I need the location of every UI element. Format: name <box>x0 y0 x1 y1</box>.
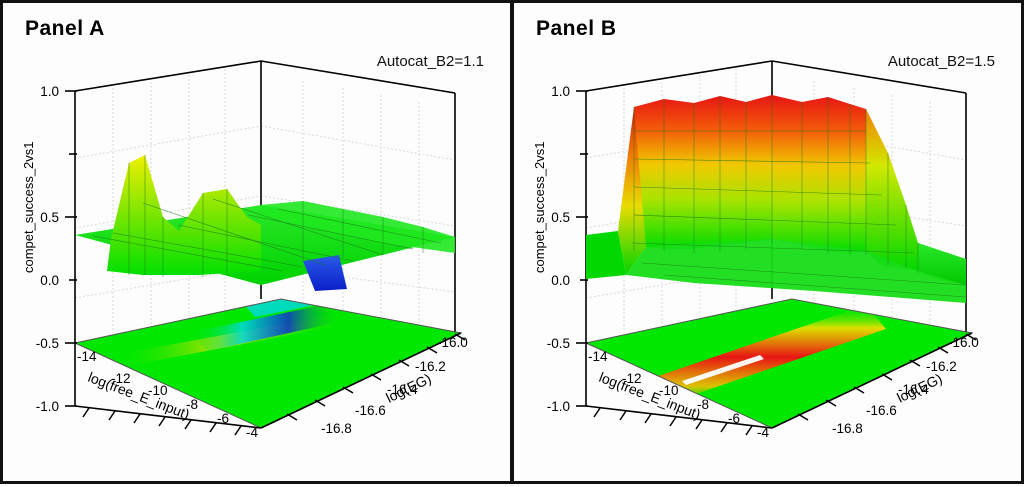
panel-b-xtick-0: -14 <box>588 349 608 364</box>
panel-b-ztick-0: 1.0 <box>551 84 570 99</box>
panel-b-ytick-4: -16.8 <box>832 421 863 436</box>
panel-b-ytick-3: -16.6 <box>866 403 897 418</box>
panel-b-ytick-0: -16.0 <box>948 335 979 350</box>
panel-a-ztick-4: -1.0 <box>36 399 59 414</box>
panel-a-z-axis-title: compet_success_2vs1 <box>21 141 36 273</box>
panel-b-z-axis-lower <box>576 343 588 406</box>
panel-b-ztick-2: 0.0 <box>551 273 570 288</box>
panel-b-z-axis-title: compet_success_2vs1 <box>532 141 547 273</box>
panel-a-ztick-1: 0.5 <box>40 210 59 225</box>
panel-a-ytick-4: -16.8 <box>321 421 352 436</box>
panel-a-ytick-3: -16.6 <box>355 403 386 418</box>
panel-b-ytick-1: -16.2 <box>926 359 957 374</box>
panel-b-surface-plot: 1.0 0.5 0.0 -0.5 -1.0 compet_success_2vs… <box>514 3 1024 487</box>
panel-a-xtick-5: -4 <box>246 425 258 440</box>
figure-container: Panel A Autocat_B2=1.1 <box>0 0 1024 484</box>
panel-a-xtick-4: -6 <box>217 411 229 426</box>
panel-b-xtick-4: -6 <box>728 411 740 426</box>
panel-a-ztick-2: 0.0 <box>40 273 59 288</box>
panel-b-z-axis: 1.0 0.5 0.0 -0.5 -1.0 compet_success_2vs… <box>532 84 588 414</box>
panel-b-xtick-5: -4 <box>757 425 769 440</box>
panel-b: Panel B Autocat_B2=1.5 <box>512 0 1024 484</box>
panel-a-surface-mesh <box>75 155 455 291</box>
panel-a-ztick-0: 1.0 <box>40 84 59 99</box>
panel-a-ytick-1: -16.2 <box>415 359 446 374</box>
panel-b-ztick-4: -1.0 <box>547 399 570 414</box>
panel-a-z-axis: 1.0 0.5 0.0 -0.5 -1.0 compet_success_2vs… <box>21 84 77 414</box>
panel-b-ztick-1: 0.5 <box>551 210 570 225</box>
panel-a-z-axis-lower <box>65 343 77 406</box>
panel-b-base-contour <box>586 299 972 428</box>
panel-a-xtick-0: -14 <box>77 349 97 364</box>
panel-b-y-axis-title: log(EG) <box>894 370 944 406</box>
panel-b-surface-mesh <box>586 95 966 303</box>
panel-a-surface-plot: 1.0 0.5 0.0 -0.5 -1.0 compet_success_2vs… <box>3 3 515 487</box>
panel-a-y-axis-title: log(EG) <box>383 370 433 406</box>
panel-b-ztick-3: -0.5 <box>547 336 570 351</box>
panel-a-ytick-0: -16.0 <box>437 335 468 350</box>
panel-a: Panel A Autocat_B2=1.1 <box>0 0 512 484</box>
panel-a-ztick-3: -0.5 <box>36 336 59 351</box>
